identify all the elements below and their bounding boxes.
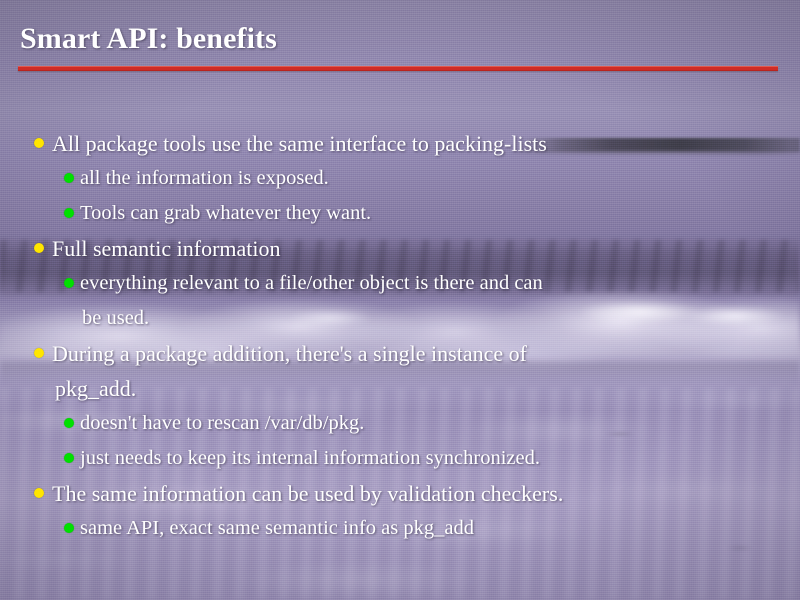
bullet-text: The same information can be used by vali… bbox=[52, 481, 563, 506]
bullet-text: During a package addition, there's a sin… bbox=[52, 341, 527, 366]
bullet-item-level2: Tools can grab whatever they want. bbox=[0, 196, 800, 231]
bullet-marker-green-icon bbox=[64, 208, 74, 218]
title-underline-rule bbox=[18, 66, 778, 71]
slide-title: Smart API: benefits bbox=[20, 22, 277, 56]
bullet-text: Full semantic information bbox=[52, 236, 281, 261]
bullet-item-level2: doesn't have to rescan /var/db/pkg. bbox=[0, 406, 800, 441]
bullet-text: All package tools use the same interface… bbox=[52, 131, 547, 156]
bullet-item-level2: all the information is exposed. bbox=[0, 161, 800, 196]
slide-body-outline: All package tools use the same interface… bbox=[0, 126, 800, 546]
bullet-text: just needs to keep its internal informat… bbox=[80, 447, 540, 469]
bullet-item-level2: same API, exact same semantic info as pk… bbox=[0, 511, 800, 546]
bullet-marker-green-icon bbox=[64, 453, 74, 463]
bullet-text-continuation: be used. bbox=[80, 301, 800, 336]
bullet-item-level2: just needs to keep its internal informat… bbox=[0, 441, 800, 476]
bullet-marker-yellow-icon bbox=[34, 348, 44, 358]
bullet-marker-green-icon bbox=[64, 418, 74, 428]
bullet-marker-green-icon bbox=[64, 278, 74, 288]
bullet-item-level2: everything relevant to a file/other obje… bbox=[0, 266, 800, 336]
bullet-marker-yellow-icon bbox=[34, 243, 44, 253]
bullet-marker-green-icon bbox=[64, 173, 74, 183]
bullet-marker-yellow-icon bbox=[34, 138, 44, 148]
bullet-text: everything relevant to a file/other obje… bbox=[80, 272, 543, 294]
bullet-marker-yellow-icon bbox=[34, 488, 44, 498]
bullet-marker-green-icon bbox=[64, 523, 74, 533]
bullet-text-continuation: pkg_add. bbox=[52, 371, 800, 406]
bullet-item-level1: Full semantic information bbox=[0, 231, 800, 266]
presentation-slide: Smart API: benefits All package tools us… bbox=[0, 0, 800, 600]
bullet-item-level1: The same information can be used by vali… bbox=[0, 476, 800, 511]
bullet-text: same API, exact same semantic info as pk… bbox=[80, 517, 474, 539]
bullet-text: Tools can grab whatever they want. bbox=[80, 202, 371, 224]
bullet-text: all the information is exposed. bbox=[80, 167, 329, 189]
bullet-text: doesn't have to rescan /var/db/pkg. bbox=[80, 412, 364, 434]
bullet-item-level1: During a package addition, there's a sin… bbox=[0, 336, 800, 406]
bullet-item-level1: All package tools use the same interface… bbox=[0, 126, 800, 161]
